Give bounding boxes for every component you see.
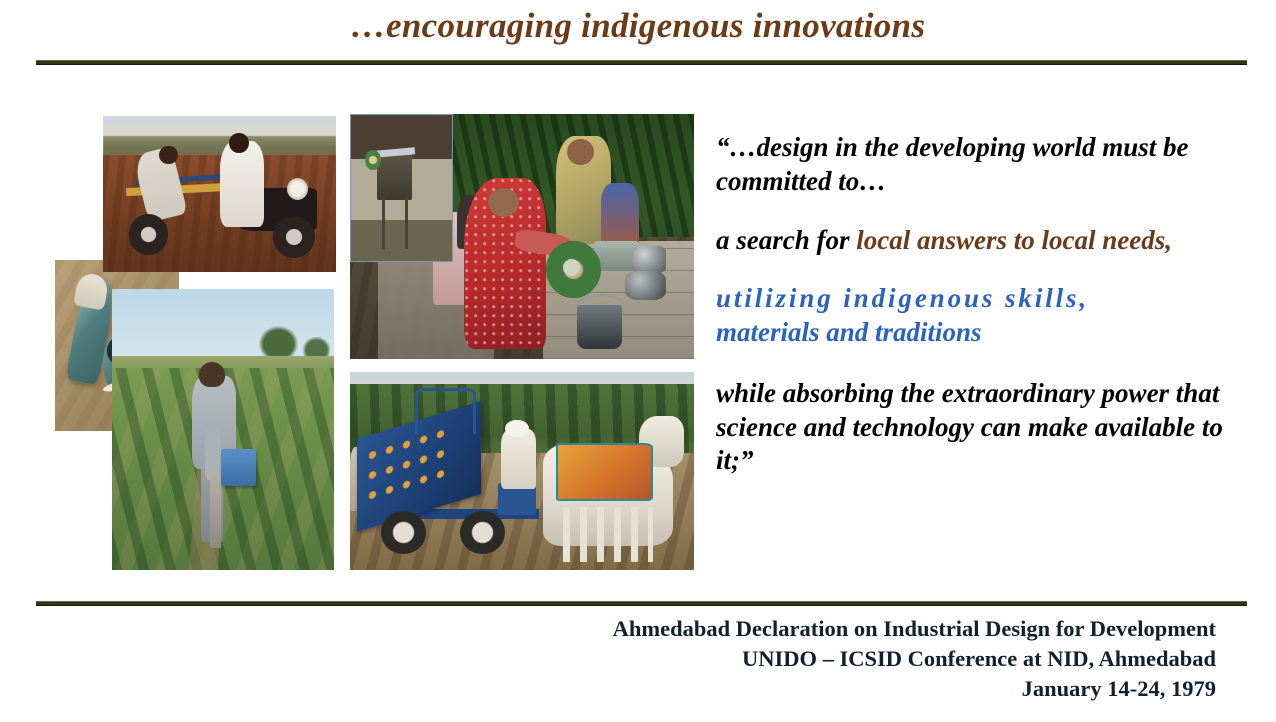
plough-wheel [129, 214, 169, 255]
inset-pump-slab [377, 153, 411, 200]
decorated-bull-cloth [556, 443, 652, 500]
figure-woman-red-sari-face [488, 188, 519, 217]
photo-bullock-cart-content [350, 372, 694, 570]
quote-paragraph-3: utilizing indigenous skills,materials an… [716, 282, 1236, 350]
photo-collage [0, 0, 720, 600]
sprayer-lance [210, 474, 221, 547]
metal-bucket [577, 305, 622, 349]
quotation-block: “…design in the developing world must be… [716, 131, 1236, 503]
divider-bottom [36, 601, 1247, 606]
metal-pot-lower [625, 271, 666, 300]
photo-pump-detail-inset [350, 114, 453, 262]
figure-bending-man-head [159, 146, 178, 165]
attribution: Ahmedabad Declaration on Industrial Desi… [0, 614, 1216, 704]
figure-farmer-arm [205, 430, 221, 481]
quote-paragraph-4: while absorbing the extraordinary power … [716, 377, 1236, 478]
attribution-line-3: January 14-24, 1979 [0, 674, 1216, 704]
figure-cart-driver [501, 429, 535, 488]
photo-farmer-sprayer [112, 289, 334, 570]
inset-pump-leg-left [382, 197, 385, 250]
attribution-line-1: Ahmedabad Declaration on Industrial Desi… [0, 614, 1216, 644]
photo-farmer-sprayer-content [112, 289, 334, 570]
inset-pump-leg-right [405, 197, 408, 250]
blue-sprayer-unit [221, 449, 257, 486]
cart-wheel-front [460, 511, 505, 555]
quote-paragraph-1: “…design in the developing world must be… [716, 131, 1236, 199]
slide: …encouraging indigenous innovations [0, 0, 1276, 722]
photo-well-pump [350, 114, 694, 359]
attribution-line-2: UNIDO – ICSID Conference at NID, Ahmedab… [0, 644, 1216, 674]
figure-farmer-head [199, 362, 226, 387]
figure-rider-head [229, 133, 249, 153]
photo-motorcycle-plough [103, 116, 336, 272]
quote-emphasis-line-1: utilizing indigenous skills, [716, 282, 1236, 316]
tree-far [259, 326, 299, 357]
photo-bullock-cart [350, 372, 694, 570]
motorcycle-wheel [273, 216, 315, 258]
figure-rider [220, 141, 264, 227]
cart-wheel-rear [381, 511, 426, 555]
quote-paragraph-2: a search for local answers to local need… [716, 224, 1236, 258]
quote-paragraph-2-lead: a search for [716, 225, 856, 255]
white-bull-legs [563, 507, 652, 562]
hand-crank-wheel-hub [563, 259, 580, 276]
metal-pot-upper [632, 246, 666, 273]
figure-cart-driver-head [505, 420, 529, 438]
figure-child-right [601, 183, 639, 247]
quote-highlight-local-answers: local answers to local needs, [856, 225, 1172, 255]
quote-emphasis-line-2: materials and traditions [716, 316, 1236, 350]
sky-region [112, 289, 334, 365]
photo-motorcycle-plough-content [103, 116, 336, 272]
